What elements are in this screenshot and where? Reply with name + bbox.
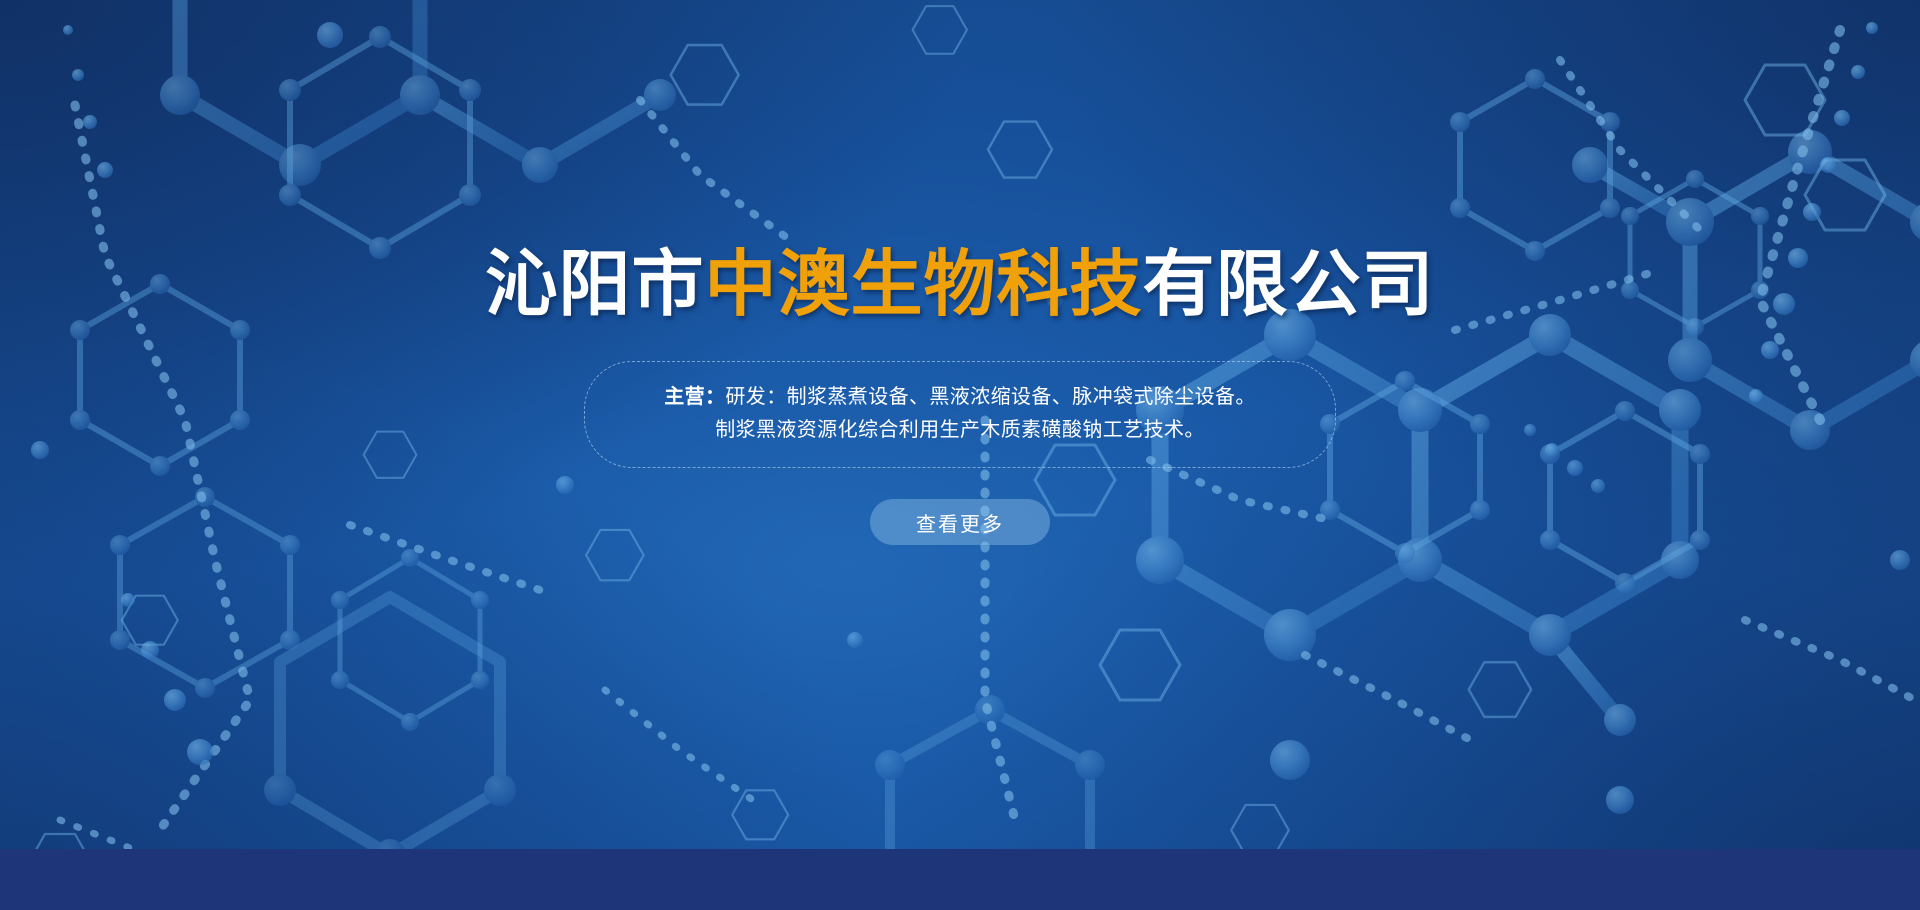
subtitle-lead: 主营： — [664, 386, 725, 408]
view-more-button[interactable]: 查看更多 — [870, 499, 1050, 545]
title-accent: 中澳生物科技 — [704, 245, 1142, 325]
hero-content: 沁阳市中澳生物科技有限公司 主营：研发：制浆蒸煮设备、黑液浓缩设备、脉冲袋式除尘… — [0, 0, 1920, 850]
title-suffix: 有限公司 — [1143, 245, 1435, 325]
subtitle-line-1-rest: 研发：制浆蒸煮设备、黑液浓缩设备、脉冲袋式除尘设备。 — [725, 386, 1255, 408]
title-prefix: 沁阳市 — [485, 245, 704, 325]
subtitle-line-2: 制浆黑液资源化综合利用生产木质素磺酸钠工艺技术。 — [615, 414, 1305, 447]
hero-banner: 沁阳市中澳生物科技有限公司 主营：研发：制浆蒸煮设备、黑液浓缩设备、脉冲袋式除尘… — [0, 0, 1920, 910]
subtitle-line-1: 主营：研发：制浆蒸煮设备、黑液浓缩设备、脉冲袋式除尘设备。 — [615, 381, 1305, 414]
subtitle-box: 主营：研发：制浆蒸煮设备、黑液浓缩设备、脉冲袋式除尘设备。 制浆黑液资源化综合利… — [584, 361, 1336, 468]
bottom-bar — [0, 849, 1920, 910]
page-title: 沁阳市中澳生物科技有限公司 — [485, 243, 1434, 327]
